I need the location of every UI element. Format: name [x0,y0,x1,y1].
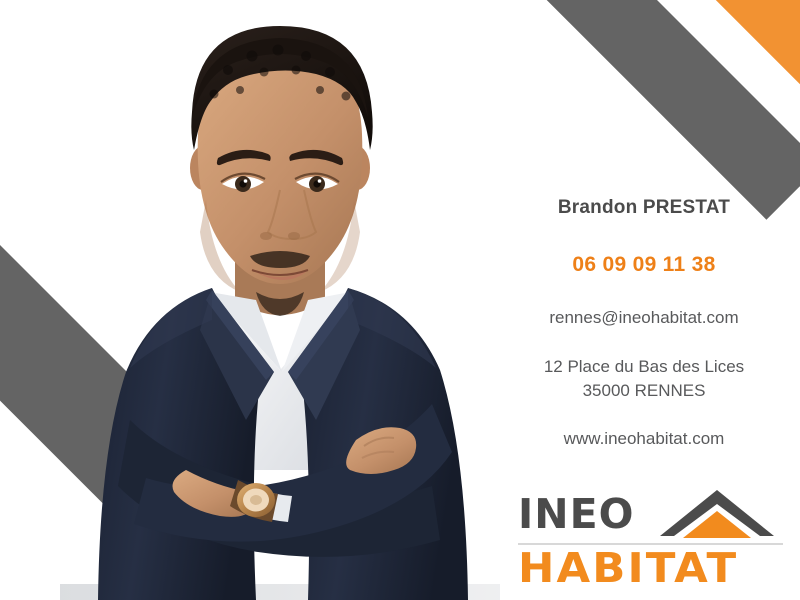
person-name: Brandon PRESTAT [500,198,788,219]
business-card: Brandon PRESTAT 06 09 09 11 38 rennes@in… [0,0,800,600]
address-line-1: 12 Place du Bas des Lices [544,357,744,376]
address-line-2: 35000 RENNES [583,381,706,400]
company-logo[interactable]: INEO HABITAT [518,488,783,593]
diagonal-gray-band-top-right [512,0,800,220]
logo-word-habitat: HABITAT [518,547,799,590]
contact-block: Brandon PRESTAT 06 09 09 11 38 rennes@in… [500,198,788,449]
roof-chevron-svg [656,486,778,542]
website-url[interactable]: www.ineohabitat.com [500,430,788,449]
phone-number[interactable]: 06 09 09 11 38 [500,253,788,276]
logo-word-ineo: INEO [518,494,634,535]
portrait-illustration [60,0,500,600]
email-address[interactable]: rennes@ineohabitat.com [500,309,788,328]
logo-top-row: INEO [518,488,783,540]
diagonal-orange-band-top-right [656,0,800,124]
postal-address: 12 Place du Bas des Lices 35000 RENNES [500,355,788,404]
roof-chevron-icon [656,486,778,542]
portrait-photo [60,0,500,600]
